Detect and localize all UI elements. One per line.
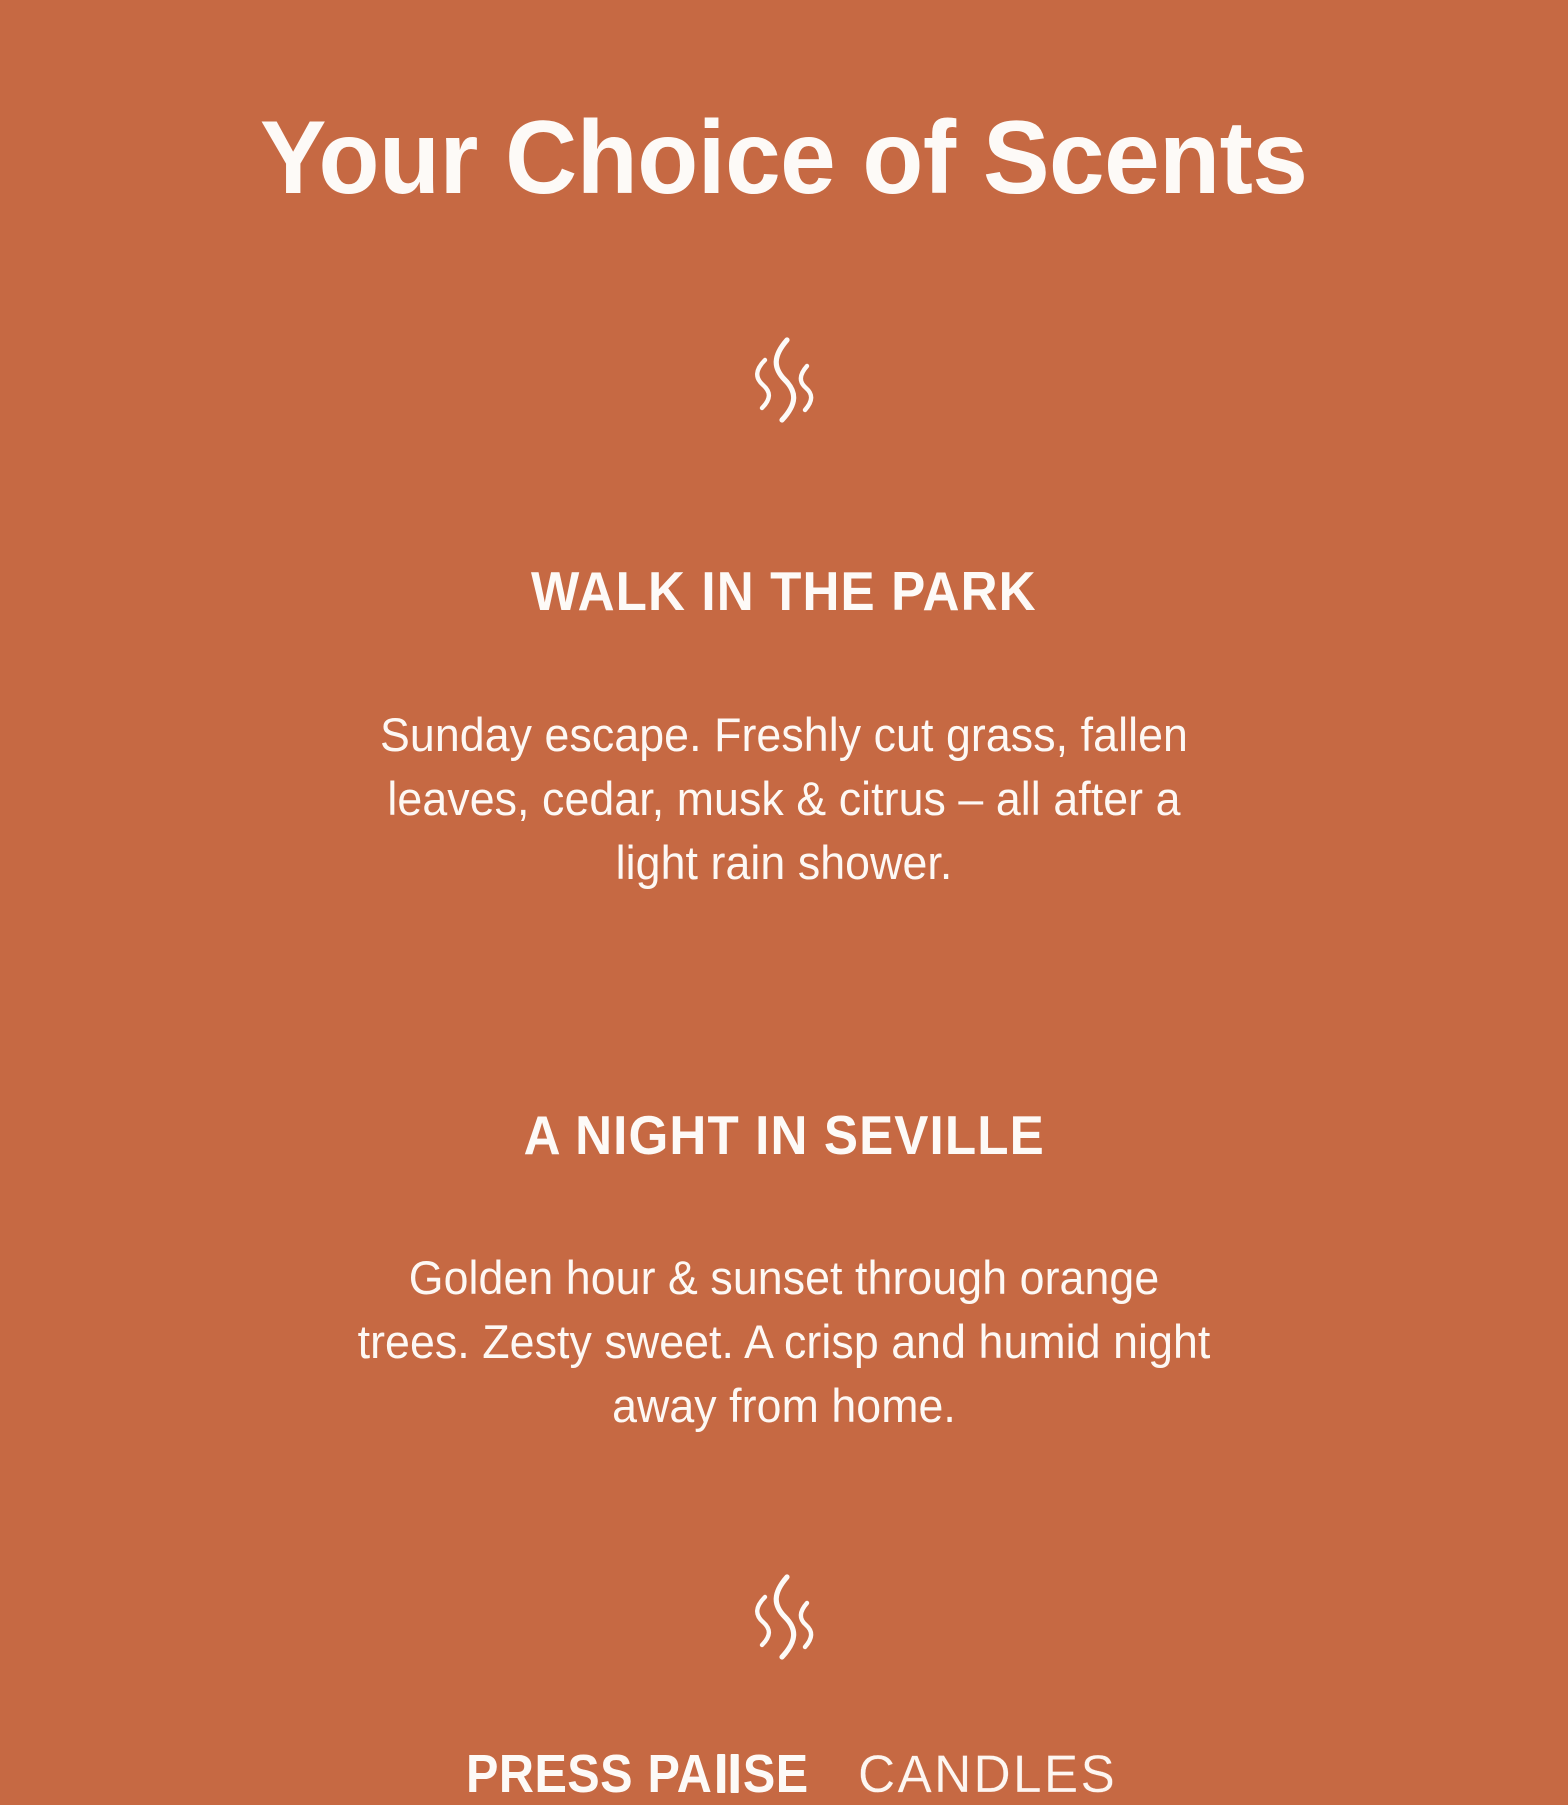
scent-item: A NIGHT IN SEVILLE Golden hour & sunset …	[0, 1061, 1568, 1485]
brand-word-candles: CANDLES	[858, 1744, 1117, 1805]
scent-poster: Your Choice of Scents WALK IN THE PARK S…	[0, 0, 1568, 1572]
brand-wordmark: PRESSPASE	[466, 1743, 809, 1805]
page-title: Your Choice of Scents	[260, 106, 1308, 210]
scent-description-walk-in-the-park: Sunday escape. Freshly cut grass, fallen…	[352, 703, 1217, 895]
smoke-wisp-icon	[747, 1573, 821, 1659]
brand-word-press: PRESS	[466, 1743, 633, 1805]
brand-logo: PRESSPASE CANDLES	[447, 1743, 1121, 1805]
scent-description-a-night-in-seville: Golden hour & sunset through orange tree…	[352, 1246, 1217, 1438]
scent-list: WALK IN THE PARK Sunday escape. Freshly …	[0, 422, 1568, 1486]
scent-name-walk-in-the-park: WALK IN THE PARK	[531, 563, 1037, 621]
brand-word-pause-prefix: PA	[648, 1743, 713, 1805]
pause-bars-icon	[715, 1754, 740, 1793]
scent-item: WALK IN THE PARK Sunday escape. Freshly …	[0, 518, 1568, 942]
smoke-wisp-icon	[747, 336, 821, 422]
brand-word-pause-suffix: SE	[743, 1743, 809, 1805]
scent-name-a-night-in-seville: A NIGHT IN SEVILLE	[523, 1107, 1044, 1165]
